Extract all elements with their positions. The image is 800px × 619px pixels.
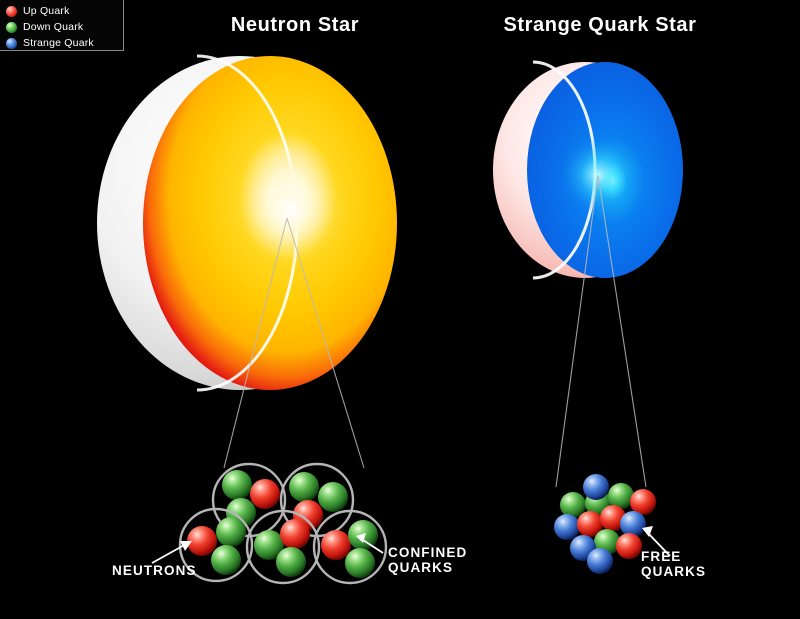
neutrons-arrow-icon [152, 541, 192, 563]
down-quark [289, 472, 319, 502]
diagram-canvas: Up Quark Down Quark Strange Quark Neutro… [0, 0, 800, 619]
confined-neutron-cluster [180, 464, 386, 583]
neutrons-label: NEUTRONS [112, 563, 197, 578]
down-quark [345, 548, 375, 578]
strange-quark [587, 548, 613, 574]
neutron-star-title: Neutron Star [150, 14, 440, 37]
quark-legend: Up Quark Down Quark Strange Quark [0, 0, 124, 51]
strange-quark [554, 514, 580, 540]
down-quark [318, 482, 348, 512]
legend-label-down-quark: Down Quark [23, 22, 83, 33]
neutron-star-core-glow [228, 150, 352, 270]
legend-item-up-quark: Up Quark [6, 3, 123, 19]
legend-label-strange-quark: Strange Quark [23, 38, 94, 49]
down-quark-sphere-icon [6, 22, 17, 33]
up-quark [616, 533, 642, 559]
down-quark [216, 517, 246, 547]
confined-quarks-label: CONFINED QUARKS [388, 545, 467, 575]
down-quark [222, 470, 252, 500]
up-quark [250, 479, 280, 509]
free-quarks-label: FREE QUARKS [641, 549, 706, 579]
strange-quark [583, 474, 609, 500]
strange-quark-star-title: Strange Quark Star [455, 14, 745, 37]
strange-quark [620, 511, 646, 537]
strange-quark-sphere-icon [6, 38, 17, 49]
nucleon [247, 511, 319, 583]
diagram-artwork [0, 0, 800, 619]
legend-label-up-quark: Up Quark [23, 6, 70, 17]
up-quark-sphere-icon [6, 6, 17, 17]
legend-item-down-quark: Down Quark [6, 19, 123, 35]
down-quark [211, 545, 241, 575]
up-quark [280, 519, 310, 549]
up-quark [321, 530, 351, 560]
neutron-star-sphere [97, 56, 397, 390]
legend-item-strange-quark: Strange Quark [6, 35, 123, 51]
down-quark [276, 547, 306, 577]
